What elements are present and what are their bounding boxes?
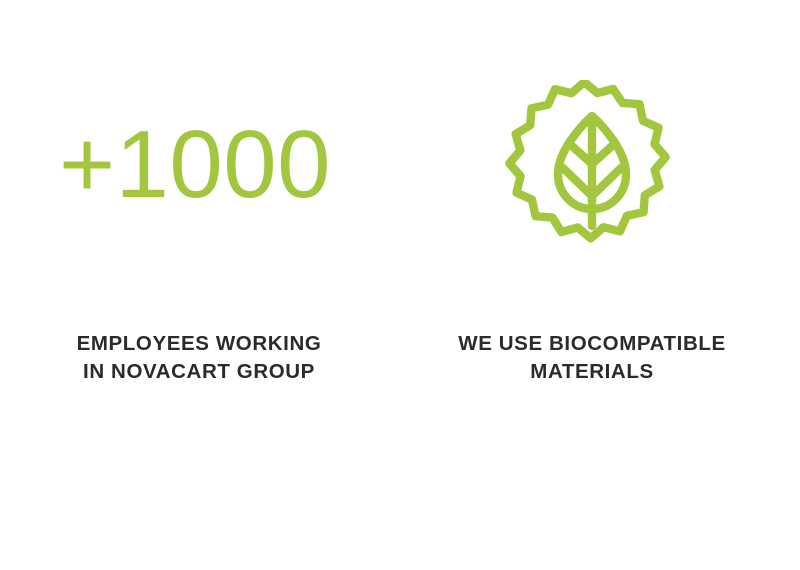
stat-value-employees: +1000 (59, 117, 331, 213)
stats-panel: +1000 EMPLOYEES WORKING IN NOVACART GROU… (0, 0, 800, 570)
stat-caption-employees: EMPLOYEES WORKING IN NOVACART GROUP (77, 330, 322, 386)
stat-caption-biocompatible-materials: WE USE BIOCOMPATIBLE MATERIALS (458, 330, 726, 386)
stat-item-employees: +1000 EMPLOYEES WORKING IN NOVACART GROU… (0, 0, 400, 570)
leaf-badge-icon (504, 80, 680, 256)
stat-visual-number: +1000 (0, 0, 400, 330)
stat-visual-icon (392, 0, 792, 330)
stat-item-biocompatible-materials: WE USE BIOCOMPATIBLE MATERIALS (400, 0, 800, 570)
